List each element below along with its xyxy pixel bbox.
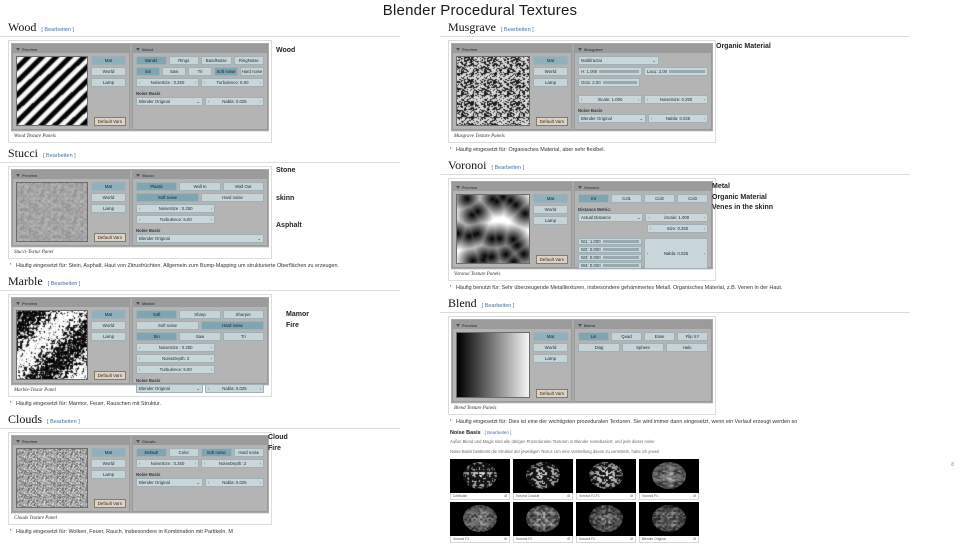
annotation-musgrave-line-0: Organic Material	[716, 42, 771, 53]
collapse-triangle-icon[interactable]	[136, 174, 140, 177]
collapse-triangle-icon[interactable]	[456, 324, 460, 327]
section-title: Voronoi	[448, 158, 486, 173]
thumbnail-image	[576, 502, 636, 536]
edit-link[interactable]: [ Bearbeiten ]	[48, 281, 81, 287]
edit-link[interactable]: [ Bearbeiten ]	[41, 27, 74, 33]
annotation-voronoi: MetalOrganic MaterialVenes in the skinn	[712, 182, 773, 214]
option-flip-xy[interactable]: Flip XY	[677, 332, 708, 341]
nabla-field[interactable]: ‹Nabla: 0.025›	[205, 97, 264, 106]
options-header-musgrave: Musgrave	[575, 45, 711, 53]
thumbnail-tag: Ø	[504, 537, 507, 541]
options-header-blend: Blend	[575, 321, 711, 329]
section-header: Voronoi[ Bearbeiten ]	[440, 158, 910, 175]
thumbnail-caption-text: Voronoi F3	[453, 537, 469, 541]
field-noisesize[interactable]: ‹NoiseSize : 0.250›	[136, 204, 215, 213]
annotation-wood: Wood	[276, 46, 295, 57]
field-turbulence-value: Turbulence: 5.00	[140, 217, 210, 222]
preview-button-lamp[interactable]: Lamp	[91, 204, 126, 213]
preview-button-lamp[interactable]: Lamp	[533, 354, 568, 363]
section-title: Marble	[8, 274, 43, 289]
field-size[interactable]: ‹Size: 0.250›	[647, 224, 708, 233]
collapse-triangle-icon[interactable]	[136, 302, 140, 305]
default-vars-button[interactable]: Default Vars	[94, 117, 126, 126]
thumbnail-caption: Blender OriginalØ	[639, 536, 699, 543]
button-row-1: DiagSphereHalo	[578, 343, 708, 352]
voronoi-tab-col3[interactable]: Col3	[677, 194, 708, 203]
thumbnail-caption-text: Voronoi Crackle	[516, 494, 539, 498]
noise-basis-paragraph-2: Noise Basis bestimmt die Struktur der je…	[450, 448, 960, 455]
button-row-1: SinSawTriSoft noiseHard noise	[136, 67, 264, 76]
blender-panel-marble: PreviewMatWorldLampDefault VarsMarbleSof…	[11, 297, 269, 385]
field-noisesize[interactable]: ‹NoiseSize: 0.250›	[644, 95, 708, 104]
option-soft-noise[interactable]: Soft noise	[136, 193, 199, 202]
options-header-voronoi: Voronoi	[575, 183, 711, 191]
preview-button-mat[interactable]: Mat	[533, 56, 568, 65]
voronoi-weight-column: W1: 1.000W2: 0.000W3: 0.000W4: 0.000	[578, 238, 642, 269]
slider-track[interactable]	[603, 256, 639, 259]
collapse-triangle-icon[interactable]	[578, 186, 582, 189]
voronoi-tab-col1[interactable]: Col1	[611, 194, 642, 203]
bullet-marble: Häufig eingesetzt für: Marmor, Feuer, Ra…	[10, 400, 440, 408]
preview-title: Preview	[462, 323, 477, 328]
thumbnail-item: CellNoiseØ	[450, 459, 510, 500]
section-title: Musgrave	[448, 20, 496, 35]
preview-button-lamp[interactable]: Lamp	[91, 470, 126, 479]
section-stucci: Stucci[ Bearbeiten ]PreviewMatWorldLampD…	[0, 146, 440, 270]
slider-track[interactable]	[603, 240, 639, 243]
panel-wrapper-blend: PreviewMatWorldLampDefault VarsBlendLinQ…	[448, 316, 716, 415]
field-w1[interactable]: W1: 1.000	[578, 238, 642, 245]
default-vars-button[interactable]: Default Vars	[536, 255, 568, 264]
preview-target-buttons: MatWorldLamp	[533, 194, 568, 264]
numeric-row: ‹NoiseSize : 0.250›‹NoiseDepth: 2›	[136, 459, 264, 468]
noise-basis-label: Noise Basis	[136, 228, 264, 233]
options-title-stucci: Stucci	[142, 173, 154, 178]
thumbnail-item: Blender OriginalØ	[639, 502, 699, 543]
panel-wrapper-musgrave: PreviewMatWorldLampDefault VarsMusgraveM…	[448, 40, 716, 143]
preview-sub-panel: PreviewMatWorldLampDefault Vars	[452, 44, 572, 130]
option-default[interactable]: Default	[136, 448, 167, 457]
noise-basis-dropdown-value: Blender Original	[139, 480, 170, 485]
voronoi-tab-row: IntCol1Col2Col3	[578, 194, 708, 203]
thumbnail-image	[576, 459, 636, 493]
preview-button-lamp[interactable]: Lamp	[91, 332, 126, 341]
preview-title: Preview	[462, 185, 477, 190]
noise-basis-dropdown[interactable]: Blender Original⌄	[578, 114, 646, 123]
noise-basis-paragraph-1: Außer Blend und Magic sind alle übrigen …	[450, 438, 960, 445]
option-bandnoise[interactable]: BandNoise	[201, 56, 232, 65]
noise-basis-label: Noise Basis	[136, 472, 264, 477]
button-row-1: Soft noiseHard noise	[136, 193, 264, 202]
noise-basis-label: Noise Basis	[578, 108, 708, 113]
bullet-voronoi: Häufig benutzt für: Sehr überzeugende Me…	[450, 284, 960, 292]
field-w4-value: W4: 0.000	[581, 263, 601, 268]
field-w3-value: W3: 0.000	[581, 255, 601, 260]
preview-title: Preview	[22, 301, 37, 306]
blender-panel-wood: PreviewMatWorldLampDefault VarsWoodBands…	[11, 43, 269, 131]
thumbnail-caption: Voronoi F2Ø	[513, 536, 573, 543]
field-octs[interactable]: Octs: 2.00	[578, 78, 640, 87]
preview-button-world[interactable]: World	[533, 343, 568, 352]
voronoi-size-row: ‹Size: 0.250›	[578, 224, 708, 233]
options-sub-panel-voronoi: VoronoiIntCol1Col2Col3Distance Metric:Ac…	[574, 182, 712, 268]
options-title-voronoi: Voronoi	[584, 185, 599, 190]
field-size-value: Size: 0.250	[651, 226, 703, 231]
collapse-triangle-icon[interactable]	[578, 324, 582, 327]
option-hard-noise[interactable]: Hard noise	[240, 67, 264, 76]
option-quad[interactable]: Quad	[611, 332, 642, 341]
texture-preview-image	[16, 56, 88, 126]
preview-button-world[interactable]: World	[91, 321, 126, 330]
thumbnail-caption: Voronoi CrackleØ	[513, 493, 573, 500]
option-halo[interactable]: Halo	[666, 343, 708, 352]
options-title-clouds: Clouds	[142, 439, 156, 444]
panel-wrapper-clouds: PreviewMatWorldLampDefault VarsCloudsDef…	[8, 432, 272, 525]
thumbnail-image	[639, 502, 699, 536]
collapse-triangle-icon[interactable]	[16, 48, 20, 51]
nabla-field[interactable]: ‹Nabla: 0.025›	[205, 478, 264, 487]
section-voronoi: Voronoi[ Bearbeiten ]PreviewMatWorldLamp…	[440, 158, 960, 292]
thumbnail-caption-text: CellNoise	[453, 494, 467, 498]
musgrave-field-row-0: H: 1.000Lacu: 2.00	[578, 67, 708, 76]
preview-button-world[interactable]: World	[533, 67, 568, 76]
preview-header: Preview	[453, 183, 571, 191]
preview-header: Preview	[13, 437, 129, 445]
options-body-marble: SoftSharpSharperSoft noiseHard noiseSinS…	[133, 307, 267, 396]
panel-wrapper-voronoi: PreviewMatWorldLampDefault VarsVoronoiIn…	[448, 178, 716, 281]
field-noisesize[interactable]: ‹NoiseSize : 0.250›	[136, 343, 215, 352]
default-vars-button[interactable]: Default Vars	[536, 389, 568, 398]
noise-basis-row: Blender Original⌄‹Nabla: 0.025›	[136, 478, 264, 487]
numeric-row: ‹NoiseDepth: 2›	[136, 354, 264, 363]
preview-button-lamp[interactable]: Lamp	[91, 78, 126, 87]
edit-link[interactable]: [ Bearbeiten ]	[47, 419, 80, 425]
option-saw[interactable]: Saw	[162, 67, 186, 76]
right-column: Musgrave[ Bearbeiten ]PreviewMatWorldLam…	[440, 20, 960, 546]
thumbnail-item: Voronoi F4Ø	[639, 459, 699, 500]
annotation-clouds: CloudFire	[268, 433, 288, 454]
option-color[interactable]: Color	[169, 448, 200, 457]
bullet-musgrave: Häufig eingesetzt für: Organisches Mater…	[450, 146, 960, 154]
option-ringnoise[interactable]: RingNoise	[234, 56, 265, 65]
options-body-wood: BandsRingsBandNoiseRingNoiseSinSawTriSof…	[133, 53, 267, 109]
thumbnail-image	[513, 502, 573, 536]
field-noisedepth[interactable]: ‹NoiseDepth: 2›	[136, 354, 215, 363]
musgrave-numeric-row: ‹iScale: 1.000›‹NoiseSize: 0.250›	[578, 95, 708, 104]
blender-panel-voronoi: PreviewMatWorldLampDefault VarsVoronoiIn…	[451, 181, 713, 269]
nabla-field[interactable]: ‹Nabla: 0.025›	[648, 114, 708, 123]
option-hard-noise[interactable]: Hard noise	[201, 193, 264, 202]
options-sub-panel-wood: WoodBandsRingsBandNoiseRingNoiseSinSawTr…	[132, 44, 268, 130]
numeric-row: ‹NoiseSize : 0.250›	[136, 343, 264, 352]
edit-link[interactable]: [ Bearbeiten ]	[482, 303, 515, 309]
option-wall-in[interactable]: Wall In	[179, 182, 220, 191]
texture-preview-image	[16, 448, 88, 508]
preview-sub-panel: PreviewMatWorldLampDefault Vars	[12, 298, 130, 384]
noise-basis-row: Blender Original⌄‹Nabla: 0.025›	[578, 114, 708, 123]
preview-button-mat[interactable]: Mat	[91, 310, 126, 319]
default-vars-button[interactable]: Default Vars	[94, 371, 126, 380]
panel-caption: Wood Texture Panels	[11, 131, 269, 140]
preview-button-world[interactable]: World	[91, 459, 126, 468]
nabla-field-value: Nabla: 0.025	[209, 99, 259, 104]
options-sub-panel-marble: MarbleSoftSharpSharperSoft noiseHard noi…	[132, 298, 268, 384]
collapse-triangle-icon[interactable]	[16, 440, 20, 443]
distance-metric-dropdown-value: Actual Distance	[581, 215, 611, 220]
options-sub-panel-clouds: CloudsDefaultColorSoft noiseHard noise‹N…	[132, 436, 268, 512]
annotation-musgrave: Organic Material	[716, 42, 771, 53]
musgrave-type-dropdown[interactable]: Multifractal⌄	[578, 56, 659, 65]
options-title-wood: Wood	[142, 47, 153, 52]
voronoi-tab-col2[interactable]: Col2	[644, 194, 675, 203]
blender-panel-musgrave: PreviewMatWorldLampDefault VarsMusgraveM…	[451, 43, 713, 131]
voronoi-weights-grid: W1: 1.000W2: 0.000W3: 0.000W4: 0.000‹Nab…	[578, 238, 708, 269]
preview-target-buttons: MatWorldLamp	[91, 56, 126, 126]
edit-link[interactable]: [ Bearbeiten ]	[501, 27, 534, 33]
button-row-0: DefaultColorSoft noiseHard noise	[136, 448, 264, 457]
preview-button-lamp[interactable]: Lamp	[533, 78, 568, 87]
preview-button-mat[interactable]: Mat	[91, 182, 126, 191]
texture-preview-image	[456, 56, 530, 126]
thumbnail-tag: Ø	[630, 537, 633, 541]
field-noisedepth-value: NoiseDepth: 2	[205, 461, 259, 466]
options-body-musgrave: Multifractal⌄H: 1.000Lacu: 2.00Octs: 2.0…	[575, 53, 711, 126]
options-body-voronoi: IntCol1Col2Col3Distance Metric:Actual Di…	[575, 191, 711, 274]
option-wall-out[interactable]: Wall Out	[223, 182, 264, 191]
field-turbulence[interactable]: ‹Turbulence: 5.00›	[136, 365, 215, 374]
edit-link[interactable]: [ Bearbeiten ]	[491, 165, 524, 171]
option-bands[interactable]: Bands	[136, 56, 167, 65]
default-vars-button[interactable]: Default Vars	[94, 233, 126, 242]
options-header-clouds: Clouds	[133, 437, 267, 445]
bullet-blend: Häufig eingesetzt für: Dies ist eine der…	[450, 418, 960, 426]
collapse-triangle-icon[interactable]	[16, 174, 20, 177]
noise-basis-dropdown[interactable]: Blender Original⌄	[136, 384, 203, 393]
preview-header: Preview	[13, 171, 129, 179]
options-header-wood: Wood	[133, 45, 267, 53]
field-turbulence-value: Turbulence: 5.00	[205, 80, 259, 85]
slider-track[interactable]	[599, 70, 639, 73]
collapse-triangle-icon[interactable]	[16, 302, 20, 305]
option-plastic[interactable]: Plastic	[136, 182, 177, 191]
preview-target-buttons: MatWorldLamp	[91, 310, 126, 380]
distance-metric-dropdown[interactable]: Actual Distance⌄	[578, 213, 643, 222]
preview-button-mat[interactable]: Mat	[91, 448, 126, 457]
field-iscale[interactable]: ‹iScale: 1.000›	[578, 95, 642, 104]
page-title: Blender Procedural Textures	[0, 2, 960, 19]
field-noisesize-value: NoiseSize : 0.250	[140, 461, 194, 466]
option-hard-noise[interactable]: Hard noise	[234, 448, 265, 457]
thumbnail-caption: Voronoi F1Ø	[576, 536, 636, 543]
preview-title: Preview	[22, 439, 37, 444]
preview-button-mat[interactable]: Mat	[91, 56, 126, 65]
field-noisesize-value: NoiseSize : 0.250	[140, 80, 194, 85]
thumbnail-caption-text: Voronoi F4	[642, 494, 658, 498]
nabla-field-value: Nabla: 0.025	[209, 480, 259, 485]
option-soft-noise[interactable]: Soft noise	[136, 321, 199, 330]
section-header: Blend[ Bearbeiten ]	[440, 296, 910, 313]
noise-basis-dropdown-value: Blender Original	[139, 236, 170, 241]
thumbnail-image	[639, 459, 699, 493]
slider-track[interactable]	[669, 70, 705, 73]
section-header: Stucci[ Bearbeiten ]	[0, 146, 400, 163]
option-saw[interactable]: Saw	[179, 332, 220, 341]
field-iscale-value: iScale: 1.000	[582, 97, 637, 102]
button-row-0: SoftSharpSharper	[136, 310, 264, 319]
left-column: Wood[ Bearbeiten ]PreviewMatWorldLampDef…	[0, 20, 440, 540]
field-w2[interactable]: W2: 0.000	[578, 246, 642, 253]
annotation-wood-line-0: Wood	[276, 46, 295, 57]
page-number: 8	[951, 462, 954, 468]
section-header: Wood[ Bearbeiten ]	[0, 20, 400, 37]
field-turbulence[interactable]: ‹Turbulence: 5.00›	[136, 215, 215, 224]
annotation-stucci-line-1: skinn	[276, 194, 302, 205]
option-lin[interactable]: Lin	[578, 332, 609, 341]
preview-button-mat[interactable]: Mat	[533, 332, 568, 341]
panel-wrapper-stucci: PreviewMatWorldLampDefault VarsStucciPla…	[8, 166, 272, 259]
preview-target-buttons: MatWorldLamp	[533, 56, 568, 126]
field-noisesize-value: NoiseSize : 0.250	[140, 345, 210, 350]
button-row-0: PlasticWall InWall Out	[136, 182, 264, 191]
field-iscale[interactable]: ‹iScale: 1.000›	[645, 213, 708, 222]
option-tri[interactable]: Tri	[188, 67, 212, 76]
option-soft[interactable]: Soft	[136, 310, 177, 319]
option-soft-noise[interactable]: Soft noise	[201, 448, 232, 457]
voronoi-tab-int[interactable]: Int	[578, 194, 609, 203]
noise-basis-dropdown[interactable]: Blender Original⌄	[136, 234, 264, 243]
thumbnail-item: Voronoi CrackleØ	[513, 459, 573, 500]
section-title: Stucci	[8, 146, 38, 161]
slider-track[interactable]	[603, 81, 638, 84]
field-noisesize[interactable]: ‹NoiseSize : 0.250›	[136, 78, 199, 87]
collapse-triangle-icon[interactable]	[578, 48, 582, 51]
edit-link[interactable]: [ Bearbeiten ]	[43, 153, 76, 159]
preview-header: Preview	[453, 45, 571, 53]
section-header: Clouds[ Bearbeiten ]	[0, 412, 400, 429]
preview-button-lamp[interactable]: Lamp	[533, 216, 568, 225]
collapse-triangle-icon[interactable]	[136, 440, 140, 443]
collapse-triangle-icon[interactable]	[136, 48, 140, 51]
preview-button-world[interactable]: World	[91, 193, 126, 202]
default-vars-button[interactable]: Default Vars	[94, 499, 126, 508]
distance-metric-label: Distance Metric:	[578, 207, 708, 212]
field-noisedepth[interactable]: ‹NoiseDepth: 2›	[201, 459, 264, 468]
chevron-down-icon: ⌄	[196, 99, 200, 105]
thumbnail-image	[513, 459, 573, 493]
nabla-field[interactable]: ‹Nabla: 0.025›	[644, 238, 708, 269]
panel-caption: Blend Texture Panels	[451, 403, 713, 412]
thumbnail-caption-text: Voronoi F1	[579, 537, 595, 541]
field-h[interactable]: H: 1.000	[578, 67, 642, 76]
section-header: Musgrave[ Bearbeiten ]	[440, 20, 910, 37]
option-hard-noise[interactable]: Hard noise	[201, 321, 264, 330]
section-blend: Blend[ Bearbeiten ]PreviewMatWorldLampDe…	[440, 296, 960, 426]
option-ease[interactable]: Ease	[644, 332, 675, 341]
field-lacu[interactable]: Lacu: 2.00	[644, 67, 708, 76]
default-vars-button[interactable]: Default Vars	[536, 117, 568, 126]
numeric-row: ‹Turbulence: 5.00›	[136, 215, 264, 224]
noise-basis-dropdown[interactable]: Blender Original⌄	[136, 97, 203, 106]
thumbnail-tag: Ø	[567, 494, 570, 498]
field-turbulence[interactable]: ‹Turbulence: 5.00›	[201, 78, 264, 87]
thumbnail-item: Voronoi F2-F1Ø	[576, 459, 636, 500]
field-w2-value: W2: 0.000	[581, 247, 601, 252]
chevron-down-icon: ⌄	[196, 480, 200, 486]
thumbnail-caption-text: Blender Original	[642, 537, 666, 541]
section-marble: Marble[ Bearbeiten ]PreviewMatWorldLampD…	[0, 274, 440, 408]
option-sin[interactable]: Sin	[136, 332, 177, 341]
panel-caption: Musgrave Texture Panels	[451, 131, 713, 140]
field-iscale-value: iScale: 1.000	[650, 215, 704, 220]
panel-caption: Clouds Texture Panel	[11, 513, 269, 522]
preview-sub-panel: PreviewMatWorldLampDefault Vars	[452, 182, 572, 268]
noise-basis-row: Blender Original⌄	[136, 234, 264, 243]
options-header-stucci: Stucci	[133, 171, 267, 179]
panel-wrapper-marble: PreviewMatWorldLampDefault VarsMarbleSof…	[8, 294, 272, 397]
numeric-row: ‹Turbulence: 5.00›	[136, 365, 264, 374]
noise-basis-dropdown-value: Blender Original	[139, 386, 170, 391]
option-sharp[interactable]: Sharp	[179, 310, 220, 319]
field-noisesize[interactable]: ‹NoiseSize : 0.250›	[136, 459, 199, 468]
annotation-voronoi-line-0: Metal	[712, 182, 773, 193]
preview-title: Preview	[22, 173, 37, 178]
collapse-triangle-icon[interactable]	[456, 48, 460, 51]
options-sub-panel-blend: BlendLinQuadEaseFlip XYDiagSphereHalo	[574, 320, 712, 402]
preview-sub-panel: PreviewMatWorldLampDefault Vars	[12, 436, 130, 512]
section-musgrave: Musgrave[ Bearbeiten ]PreviewMatWorldLam…	[440, 20, 960, 154]
option-diag[interactable]: Diag	[578, 343, 620, 352]
field-turbulence-value: Turbulence: 5.00	[140, 367, 210, 372]
field-w3[interactable]: W3: 0.000	[578, 254, 642, 261]
section-noise-basis: Noise Basis[ Bearbeiten ]Außer Blend und…	[440, 430, 960, 542]
nabla-field-value: Nabla: 0.025	[652, 116, 703, 121]
option-sin[interactable]: Sin	[136, 67, 160, 76]
thumbnail-tag: Ø	[630, 494, 633, 498]
option-rings[interactable]: Rings	[169, 56, 200, 65]
button-row-2: SinSawTri	[136, 332, 264, 341]
field-w4[interactable]: W4: 0.000	[578, 262, 642, 269]
option-soft-noise[interactable]: Soft noise	[214, 67, 238, 76]
option-sphere[interactable]: Sphere	[622, 343, 664, 352]
option-tri[interactable]: Tri	[223, 332, 264, 341]
thumbnail-caption: Voronoi F4Ø	[639, 493, 699, 500]
field-noisesize-value: NoiseSize: 0.250	[648, 97, 703, 102]
preview-button-world[interactable]: World	[91, 67, 126, 76]
edit-link[interactable]: [ Bearbeiten ]	[485, 430, 512, 435]
panel-caption: Stucci-Textur Panel	[11, 247, 269, 256]
texture-preview-image	[16, 182, 88, 242]
preview-button-world[interactable]: World	[533, 205, 568, 214]
blender-panel-blend: PreviewMatWorldLampDefault VarsBlendLinQ…	[451, 319, 713, 403]
preview-header: Preview	[13, 45, 129, 53]
noise-basis-thumbnails: CellNoiseØVoronoi CrackleØVoronoi F2-F1Ø…	[450, 459, 700, 543]
annotation-clouds-line-1: Fire	[268, 444, 288, 455]
texture-preview-image	[16, 310, 88, 380]
slider-track[interactable]	[603, 248, 639, 251]
collapse-triangle-icon[interactable]	[456, 186, 460, 189]
options-header-marble: Marble	[133, 299, 267, 307]
options-title-musgrave: Musgrave	[584, 47, 603, 52]
preview-sub-panel: PreviewMatWorldLampDefault Vars	[12, 170, 130, 246]
annotation-marble: MamorFire	[286, 310, 309, 331]
musgrave-field-row-1: Octs: 2.00	[578, 78, 708, 87]
noise-basis-dropdown[interactable]: Blender Original⌄	[136, 478, 203, 487]
slider-track[interactable]	[603, 264, 639, 267]
preview-button-mat[interactable]: Mat	[533, 194, 568, 203]
option-sharper[interactable]: Sharper	[223, 310, 264, 319]
preview-header: Preview	[13, 299, 129, 307]
nabla-field[interactable]: ‹Nabla: 0.025›	[205, 384, 264, 393]
